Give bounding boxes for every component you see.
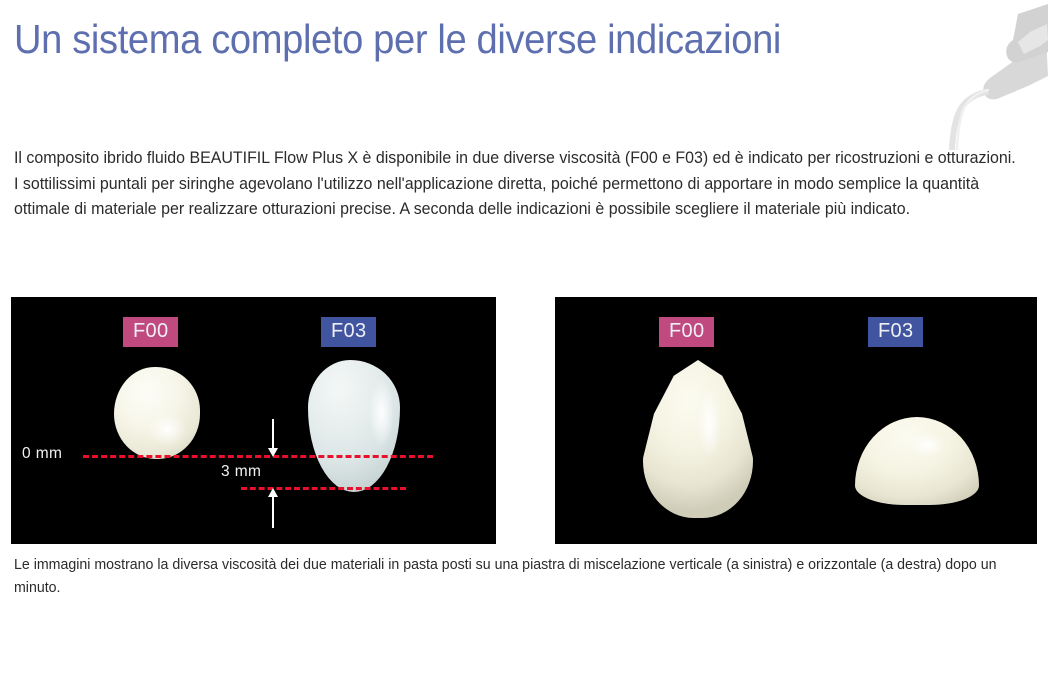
page-title: Un sistema completo per le diverse indic… — [14, 14, 781, 64]
panel-horizontal-plate: F00 F03 — [555, 297, 1037, 544]
syringe-icon — [868, 0, 1048, 150]
figure-caption: Le immagini mostrano la diversa viscosit… — [14, 554, 1021, 600]
comparison-panels: 0 mm 3 mm F00 F03 F00 F03 — [11, 297, 1037, 544]
arrow-down-icon — [272, 419, 274, 449]
page-root: Un sistema completo per le diverse indic… — [0, 0, 1048, 698]
material-blob-f00-vertical — [114, 367, 200, 459]
measure-label-0mm: 0 mm — [22, 445, 62, 463]
measure-line-3mm — [241, 487, 406, 490]
badge-f03-vertical: F03 — [321, 317, 376, 347]
badge-f03-horizontal: F03 — [868, 317, 923, 347]
syringe-decoration — [868, 0, 1048, 150]
measure-line-0mm — [83, 455, 433, 458]
material-blob-f03-horizontal — [855, 417, 979, 505]
material-blob-f00-horizontal — [643, 360, 753, 518]
panel-vertical-plate: 0 mm 3 mm F00 F03 — [11, 297, 496, 544]
badge-f00-vertical: F00 — [123, 317, 178, 347]
measure-label-3mm: 3 mm — [221, 463, 261, 481]
material-blob-f03-vertical — [308, 360, 400, 492]
intro-paragraph: Il composito ibrido fluido BEAUTIFIL Flo… — [14, 146, 1019, 223]
badge-f00-horizontal: F00 — [659, 317, 714, 347]
arrow-up-icon — [272, 496, 274, 528]
